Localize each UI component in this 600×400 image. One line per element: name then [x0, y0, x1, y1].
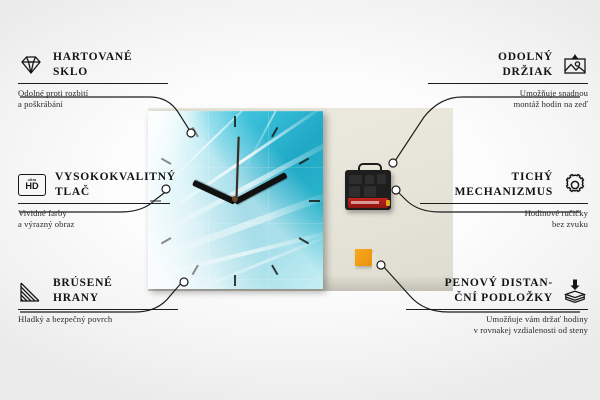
feature-silent-mechanism: TICHÝ MECHANIZMUS Hodinové ručičky bez z… — [420, 170, 588, 231]
foam-spacer-pad — [355, 249, 372, 266]
divider — [428, 83, 588, 84]
product-photo — [148, 108, 453, 291]
divider — [406, 309, 588, 310]
feature-high-quality-print: ultra HD VYSOKOKVALITNÝ TLAČ Vividné far… — [18, 170, 170, 231]
clock-mechanism — [345, 170, 391, 210]
mechanism-part — [349, 186, 360, 197]
press-down-layers-icon — [562, 278, 588, 304]
feature-desc: Vividné farby a výrazný obraz — [18, 208, 170, 231]
feature-durable-hanger: ODOLNÝ DRŽIAK Umožňuje snadnou montáž ho… — [428, 50, 588, 111]
mechanism-part — [349, 175, 362, 184]
ultra-hd-icon-main: HD — [25, 182, 38, 191]
battery — [348, 198, 388, 208]
divider — [18, 83, 168, 84]
mechanism-part — [365, 175, 374, 184]
feature-ground-edges: BRÚSENÉ HRANY Hladký a bezpečný povrch — [18, 276, 178, 325]
feature-title: PENOVÝ DISTAN- ČNÍ PODLOŽKY — [445, 276, 553, 305]
feature-tempered-glass: HARTOVANÉ SKLO Odolné proti rozbití a po… — [18, 50, 168, 111]
glass-wall-clock — [148, 111, 323, 289]
feature-desc: Umožňuje vám držať hodiny v rovnakej vzd… — [406, 314, 588, 337]
feature-desc: Umožňuje snadnou montáž hodin na zeď — [428, 88, 588, 111]
divider — [18, 309, 178, 310]
clock-tick — [234, 275, 236, 286]
mechanism-part — [364, 186, 376, 197]
feature-desc: Hodinové ručičky bez zvuku — [420, 208, 588, 231]
clock-center-pin — [232, 196, 238, 202]
feature-foam-spacers: PENOVÝ DISTAN- ČNÍ PODLOŽKY Umožňuje vám… — [406, 276, 588, 337]
feature-title: HARTOVANÉ SKLO — [53, 50, 132, 79]
clock-tick — [309, 200, 320, 202]
divider — [18, 203, 170, 204]
diamond-icon — [18, 52, 44, 78]
picture-frame-icon — [562, 52, 588, 78]
mechanism-hanger-hook — [358, 163, 382, 174]
feature-title: VYSOKOKVALITNÝ TLAČ — [55, 170, 176, 199]
mechanism-part — [377, 174, 386, 184]
clock-tick — [234, 116, 236, 127]
infographic-canvas: HARTOVANÉ SKLO Odolné proti rozbití a po… — [0, 0, 600, 400]
battery-label — [351, 201, 379, 204]
divider — [420, 203, 588, 204]
gear-icon — [562, 172, 588, 198]
ultra-hd-icon: ultra HD — [18, 174, 46, 196]
hatched-edge-icon — [18, 278, 44, 304]
feature-title: BRÚSENÉ HRANY — [53, 276, 113, 305]
feature-desc: Odolné proti rozbití a poškrábání — [18, 88, 168, 111]
feature-title: TICHÝ MECHANIZMUS — [455, 170, 553, 199]
feature-title: ODOLNÝ DRŽIAK — [498, 50, 553, 79]
feature-desc: Hladký a bezpečný povrch — [18, 314, 178, 325]
